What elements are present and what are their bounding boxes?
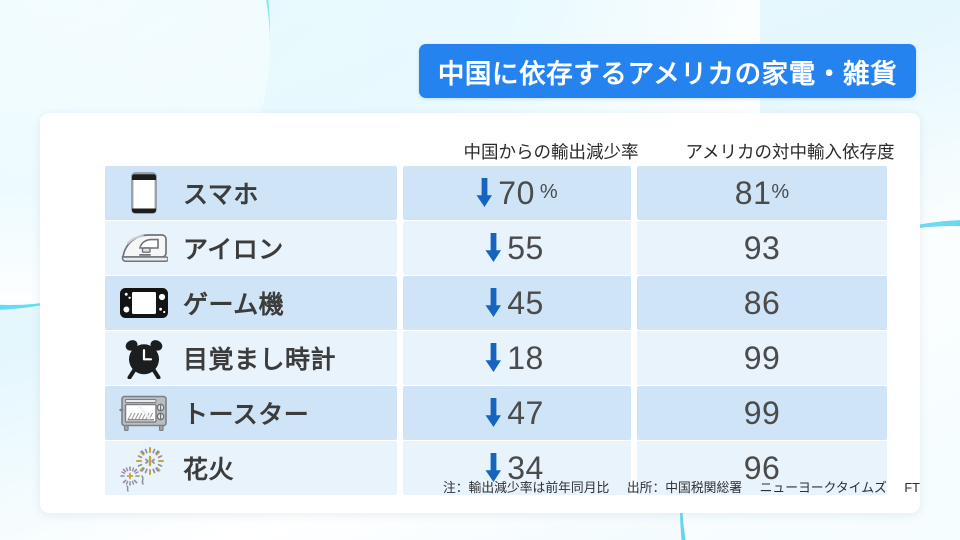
- item-label: アイロン: [183, 230, 284, 266]
- import-dependency-unit: %: [771, 181, 789, 204]
- item-cell: アイロン: [105, 221, 397, 275]
- header-import-dependency: アメリカの対中輸入依存度: [665, 139, 915, 166]
- down-arrow-icon: [485, 288, 502, 318]
- table-row: ゲーム機 45 86: [105, 276, 895, 330]
- toaster-oven-icon: [105, 393, 183, 433]
- footnote-note: 注：輸出減少率は前年同月比: [443, 480, 609, 495]
- item-label: トースター: [183, 395, 309, 431]
- down-arrow-icon: [485, 398, 502, 428]
- down-arrow-icon: [485, 233, 502, 263]
- import-dependency-value: 93: [744, 232, 781, 264]
- table-row: 目覚まし時計 18 99: [105, 331, 895, 385]
- item-label: スマホ: [183, 175, 259, 211]
- import-dependency-cell: 99: [637, 386, 887, 440]
- table-row: スマホ 70 % 81 %: [105, 166, 895, 220]
- footnote-credit-ft: FT: [904, 480, 920, 495]
- import-dependency-value: 81: [735, 177, 772, 209]
- alarm-clock-icon: [105, 337, 183, 379]
- import-dependency-cell: 81 %: [637, 166, 887, 220]
- page-title: 中国に依存するアメリカの家電・雑貨: [438, 52, 897, 91]
- footnote: 注：輸出減少率は前年同月比 出所：中国税関総署 ニューヨークタイムズ FT: [145, 477, 920, 496]
- down-arrow-icon: [485, 343, 502, 373]
- data-table: スマホ 70 % 81 %: [105, 166, 895, 496]
- game-console-icon: [105, 287, 183, 319]
- footnote-credit-nyt: ニューヨークタイムズ: [760, 480, 887, 495]
- export-decline-cell: 55: [403, 221, 631, 275]
- export-decline-cell: 70 %: [403, 166, 631, 220]
- export-decline-value: 47: [507, 397, 544, 429]
- export-decline-value: 55: [507, 232, 544, 264]
- item-cell: トースター: [105, 386, 397, 440]
- item-label: 目覚まし時計: [183, 340, 336, 376]
- export-decline-value: 70: [498, 177, 535, 209]
- table-row: アイロン 55 93: [105, 221, 895, 275]
- export-decline-cell: 45: [403, 276, 631, 330]
- item-cell: ゲーム機: [105, 276, 397, 330]
- import-dependency-cell: 86: [637, 276, 887, 330]
- item-label: ゲーム機: [183, 285, 284, 321]
- title-banner: 中国に依存するアメリカの家電・雑貨: [419, 44, 916, 98]
- import-dependency-value: 99: [744, 342, 781, 374]
- export-decline-cell: 18: [403, 331, 631, 385]
- header-export-decline: 中国からの輸出減少率: [437, 139, 665, 166]
- import-dependency-cell: 93: [637, 221, 887, 275]
- iron-icon: [105, 231, 183, 265]
- export-decline-value: 45: [507, 287, 544, 319]
- import-dependency-cell: 99: [637, 331, 887, 385]
- export-decline-value: 18: [507, 342, 544, 374]
- export-decline-cell: 47: [403, 386, 631, 440]
- import-dependency-value: 86: [744, 287, 781, 319]
- smartphone-icon: [105, 172, 183, 214]
- item-cell: スマホ: [105, 166, 397, 220]
- down-arrow-icon: [476, 178, 493, 208]
- export-decline-unit: %: [540, 181, 558, 204]
- content-card: 中国からの輸出減少率 アメリカの対中輸入依存度 スマホ: [40, 113, 920, 513]
- import-dependency-value: 99: [744, 397, 781, 429]
- footnote-source: 出所：中国税関総署: [627, 480, 742, 495]
- table-row: トースター 47 99: [105, 386, 895, 440]
- item-cell: 目覚まし時計: [105, 331, 397, 385]
- column-headers: 中国からの輸出減少率 アメリカの対中輸入依存度: [145, 132, 915, 166]
